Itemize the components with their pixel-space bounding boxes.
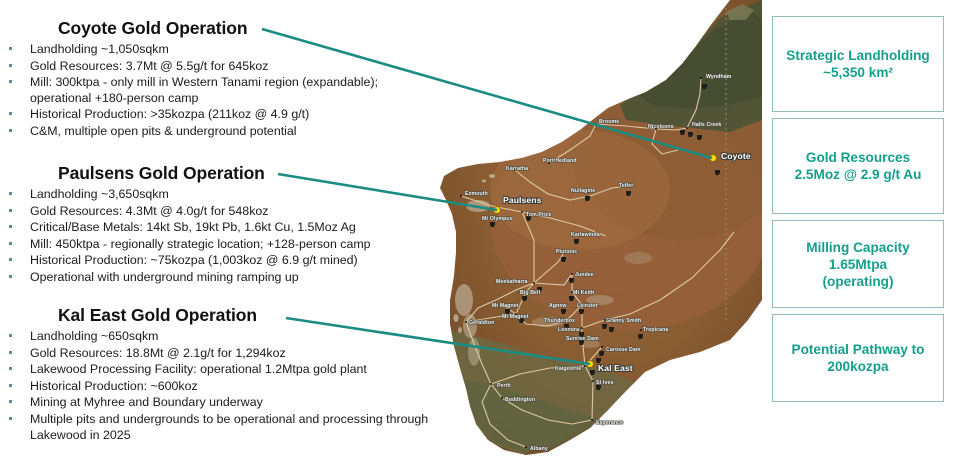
highlight-box-text: Gold Resources 2.5Moz @ 2.9 g/t Au <box>795 149 922 183</box>
map-landmass <box>430 0 762 462</box>
highlight-box-potential-pathway: Potential Pathway to 200kozpa <box>772 314 944 402</box>
town-label: Perth <box>497 383 511 389</box>
bullet-text: Operational with underground mining ramp… <box>30 270 299 284</box>
bullet-marker <box>9 47 12 50</box>
slide-canvas: WyndhamHalls CreekNicolsonsBroomePort He… <box>0 0 955 462</box>
bullet-marker <box>9 192 12 195</box>
town-label: Mt Olympus <box>482 216 513 222</box>
bullet-text: Gold Resources: 4.3Mt @ 4.0g/t for 548ko… <box>30 204 268 218</box>
bullet-item: Landholding ~3,650sqkm <box>0 187 430 203</box>
mine-symbol-icon <box>569 278 574 283</box>
town-label: Mt Magnet <box>502 314 529 320</box>
bullet-marker <box>9 400 12 403</box>
bullet-marker <box>9 384 12 387</box>
bullet-item: Mill: 450ktpa - regionally strategic loc… <box>0 237 430 253</box>
mine-symbol-icon <box>561 309 566 314</box>
mine-symbol-icon <box>579 309 584 314</box>
bullet-text: Mill: 450ktpa - regionally strategic loc… <box>30 237 371 251</box>
town-label: Leonora <box>558 327 579 333</box>
bullet-text: Historical Production: ~75kozpa (1,003ko… <box>30 253 358 267</box>
operation-bullets-paulsens: Landholding ~3,650sqkm Gold Resources: 4… <box>0 187 430 286</box>
highlight-box-milling-capacity: Milling Capacity 1.65Mtpa (operating) <box>772 220 944 308</box>
bullet-marker <box>9 334 12 337</box>
town-label: Plutonic <box>556 249 577 255</box>
bullet-text: Landholding ~3,650sqkm <box>30 187 169 201</box>
mine-symbol-icon <box>680 130 685 135</box>
bullet-text: Landholding ~650sqkm <box>30 329 158 343</box>
bullet-item: Landholding ~650sqkm <box>0 329 430 345</box>
site-marker-kal-east[interactable] <box>587 361 593 367</box>
town-label: Leinster <box>577 303 598 309</box>
highlight-box-text: Strategic Landholding ~5,350 km² <box>786 47 930 81</box>
mine-symbol-icon <box>609 327 614 332</box>
bullet-item: Operational with underground mining ramp… <box>0 270 430 286</box>
bullet-marker <box>9 64 12 67</box>
mine-symbol-icon <box>626 191 631 196</box>
bullet-marker <box>9 258 12 261</box>
town-label: Sunrise Dam <box>566 336 599 342</box>
town-label: Halls Creek <box>692 122 721 128</box>
mine-symbol-icon <box>715 170 720 175</box>
bullet-text: Historical Production: ~600koz <box>30 379 198 393</box>
town-label: Karlawinda <box>571 232 600 238</box>
mine-symbol-icon <box>602 324 607 329</box>
mine-symbol-icon <box>697 135 702 140</box>
town-label: Wyndham <box>706 74 731 80</box>
operation-block-coyote: Coyote Gold Operation Landholding ~1,050… <box>0 18 430 141</box>
town-label: Boddington <box>505 397 535 403</box>
mine-symbol-icon <box>569 296 574 301</box>
bullet-item: C&M, multiple open pits & underground po… <box>0 124 430 140</box>
town-label: Thunderbox <box>544 318 575 324</box>
mine-symbol-icon <box>490 222 495 227</box>
bullet-marker <box>9 367 12 370</box>
bullet-item: Gold Resources: 4.3Mt @ 4.0g/t for 548ko… <box>0 204 430 220</box>
mine-symbol-icon <box>702 84 707 89</box>
town-label: Nullagine <box>571 188 595 194</box>
bullet-item: Mill: 300ktpa - only mill in Western Tan… <box>0 75 430 106</box>
site-marker-coyote[interactable] <box>710 155 716 161</box>
bullet-item: Historical Production: ~600koz <box>0 379 430 395</box>
mine-symbol-icon <box>505 309 510 314</box>
bullet-item: Multiple pits and undergrounds to be ope… <box>0 412 430 443</box>
town-label: Agnew <box>549 303 567 309</box>
town-label: Tom Price <box>526 212 552 218</box>
site-marker-paulsens[interactable] <box>494 207 500 213</box>
site-label-kal-east: Kal East <box>598 363 633 373</box>
bullet-text: Historical Production: >35kozpa (211koz … <box>30 107 309 121</box>
mine-symbol-icon <box>688 132 693 137</box>
operation-bullets-kaleast: Landholding ~650sqkm Gold Resources: 18.… <box>0 329 430 443</box>
bullet-marker <box>9 225 12 228</box>
town-label: Meekatharra <box>496 279 528 285</box>
town-label: Telfer <box>619 183 633 189</box>
town-label: Broome <box>599 119 619 125</box>
town-label: Karratha <box>506 166 528 172</box>
town-label: Nicolsons <box>648 124 674 130</box>
bullet-marker <box>9 112 12 115</box>
town-label: Kalgoorlie <box>555 366 581 372</box>
bullet-item: Gold Resources: 3.7Mt @ 5.5g/t for 645ko… <box>0 59 430 75</box>
bullet-text: Gold Resources: 3.7Mt @ 5.5g/t for 645ko… <box>30 59 268 73</box>
town-label: Tropicana <box>643 327 668 333</box>
site-label-paulsens: Paulsens <box>503 195 542 205</box>
site-label-coyote: Coyote <box>721 151 751 161</box>
bullet-item: Gold Resources: 18.8Mt @ 2.1g/t for 1,29… <box>0 346 430 362</box>
bullet-text: Lakewood Processing Facility: operationa… <box>30 362 367 376</box>
town-label: Big Bell <box>520 290 540 296</box>
town-label: Port Hedland <box>543 158 576 164</box>
operation-title-coyote: Coyote Gold Operation <box>58 18 430 39</box>
mine-symbol-icon <box>522 296 527 301</box>
bullet-text: Gold Resources: 18.8Mt @ 2.1g/t for 1,29… <box>30 346 286 360</box>
operation-title-kaleast: Kal East Gold Operation <box>58 305 430 326</box>
mine-symbol-icon <box>638 334 643 339</box>
mine-symbol-icon <box>596 358 601 363</box>
town-label: Mt Keith <box>573 290 594 296</box>
mine-symbol-icon <box>585 196 590 201</box>
australia-map: WyndhamHalls CreekNicolsonsBroomePort He… <box>430 0 762 462</box>
town-label: Jundee <box>575 272 594 278</box>
town-label: Geraldton <box>469 320 494 326</box>
bullet-marker <box>9 129 12 132</box>
bullet-item: Mining at Myhree and Boundary underway <box>0 395 430 411</box>
town-label: Granny Smith <box>606 318 641 324</box>
bullet-item: Critical/Base Metals: 14kt Sb, 19kt Pb, … <box>0 220 430 236</box>
highlight-box-gold-resources: Gold Resources 2.5Moz @ 2.9 g/t Au <box>772 118 944 214</box>
mine-symbol-icon <box>561 257 566 262</box>
town-label: Exmouth <box>465 191 488 197</box>
bullet-item: Historical Production: ~75kozpa (1,003ko… <box>0 253 430 269</box>
operation-block-kaleast: Kal East Gold Operation Landholding ~650… <box>0 305 430 444</box>
bullet-text: Multiple pits and undergrounds to be ope… <box>30 412 428 442</box>
town-label: Esperance <box>596 420 623 426</box>
bullet-marker <box>9 275 12 278</box>
mine-symbol-icon <box>599 351 604 356</box>
bullet-marker <box>9 242 12 245</box>
bullet-marker <box>9 209 12 212</box>
highlight-box-text: Milling Capacity 1.65Mtpa (operating) <box>806 239 909 290</box>
highlight-box-strategic-landholding: Strategic Landholding ~5,350 km² <box>772 16 944 112</box>
operation-block-paulsens: Paulsens Gold Operation Landholding ~3,6… <box>0 163 430 287</box>
operation-bullets-coyote: Landholding ~1,050sqkm Gold Resources: 3… <box>0 42 430 140</box>
bullet-text: Critical/Base Metals: 14kt Sb, 19kt Pb, … <box>30 220 356 234</box>
bullet-item: Landholding ~1,050sqkm <box>0 42 430 58</box>
bullet-text: Landholding ~1,050sqkm <box>30 42 169 56</box>
bullet-text: Mining at Myhree and Boundary underway <box>30 395 263 409</box>
highlight-box-text: Potential Pathway to 200kozpa <box>792 341 925 375</box>
town-label: Mt Magnet <box>492 303 519 309</box>
map-graphic <box>430 0 762 462</box>
town-label: St Ives <box>596 380 613 386</box>
bullet-marker <box>9 80 12 83</box>
bullet-marker <box>9 351 12 354</box>
bullet-text: C&M, multiple open pits & underground po… <box>30 124 297 138</box>
operation-title-paulsens: Paulsens Gold Operation <box>58 163 430 184</box>
mine-symbol-icon <box>574 239 579 244</box>
mine-symbol-icon <box>590 370 595 375</box>
bullet-item: Lakewood Processing Facility: operationa… <box>0 362 430 378</box>
bullet-item: Historical Production: >35kozpa (211koz … <box>0 107 430 123</box>
town-label: Albany <box>530 446 548 452</box>
town-label: Carosue Dam <box>606 347 641 353</box>
bullet-text: Mill: 300ktpa - only mill in Western Tan… <box>30 75 378 105</box>
bullet-marker <box>9 417 12 420</box>
